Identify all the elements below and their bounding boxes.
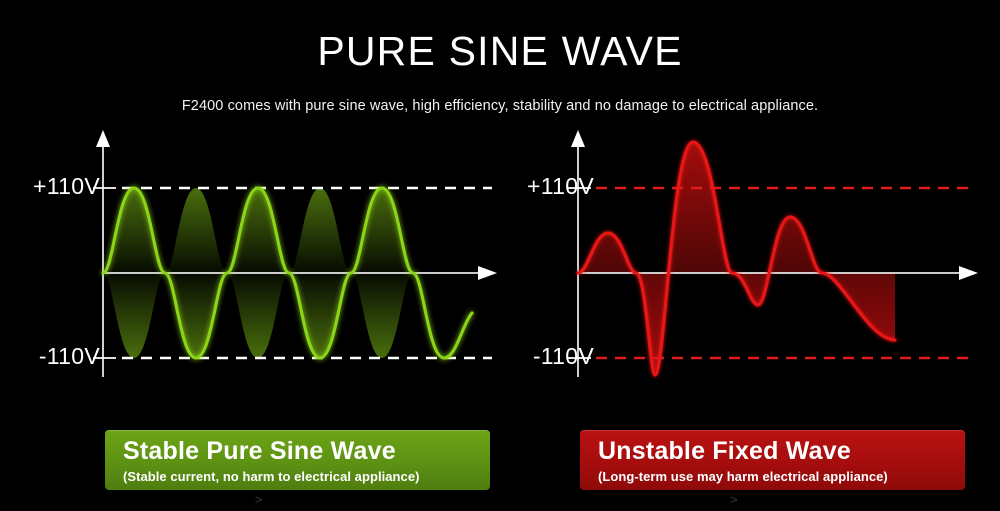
right-chart-label-negative-110: -110V: [502, 343, 594, 370]
badge-red-subtitle: (Long-term use may harm electrical appli…: [598, 469, 965, 485]
chart-unstable-fixed-wave: +110V -110V: [500, 125, 1000, 400]
badge-stable-pure-sine-wave[interactable]: Stable Pure Sine Wave (Stable current, n…: [105, 430, 490, 490]
unstable-fixed-waveform: [578, 142, 895, 375]
y-axis-arrow-icon: [571, 130, 585, 147]
chevron-right-icon-left: >: [255, 493, 263, 506]
x-axis-arrow-icon: [959, 266, 978, 280]
slide-canvas: PURE SINE WAVE F2400 comes with pure sin…: [0, 0, 1000, 511]
y-axis-arrow-icon: [96, 130, 110, 147]
right-chart-label-positive-110: +110V: [502, 173, 594, 200]
badge-green-title: Stable Pure Sine Wave: [123, 437, 490, 467]
badge-red-title: Unstable Fixed Wave: [598, 437, 965, 467]
left-chart-label-positive-110: +110V: [8, 173, 100, 200]
badge-unstable-fixed-wave[interactable]: Unstable Fixed Wave (Long-term use may h…: [580, 430, 965, 490]
x-axis-arrow-icon: [478, 266, 497, 280]
left-chart-label-negative-110: -110V: [8, 343, 100, 370]
page-subtitle: F2400 comes with pure sine wave, high ef…: [0, 98, 1000, 114]
chart-pure-sine-wave: +110V -110V: [0, 125, 500, 400]
badge-green-subtitle: (Stable current, no harm to electrical a…: [123, 469, 490, 485]
chevron-right-icon-right: >: [730, 493, 738, 506]
page-title: PURE SINE WAVE: [0, 28, 1000, 75]
